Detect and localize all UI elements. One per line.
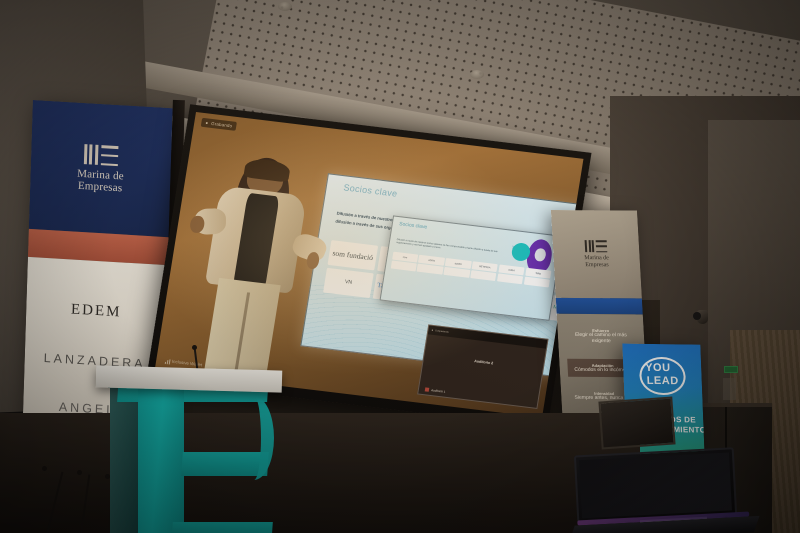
laptop-lid — [574, 447, 737, 523]
banner-brand-name: Marina de Empresas — [77, 169, 124, 196]
logo-line-1: YOU — [645, 362, 671, 374]
participant-label: Auditorio 1 — [431, 388, 446, 394]
watermark-label: Inclusive Wallet — [172, 359, 203, 368]
right-banner-brand: Marina de Empresas — [584, 255, 609, 268]
letter-e-bottom-arm — [171, 522, 273, 533]
letter-e-curve — [234, 396, 274, 480]
shared-logo — [417, 264, 444, 275]
shared-logo — [444, 267, 471, 278]
wall-plate — [723, 378, 736, 400]
logo-line-2: LEAD — [647, 375, 679, 387]
letter-e-spine — [138, 382, 184, 533]
auditorium-scene: Marina de Empresas EDEM LANZADERA ANGELS… — [0, 0, 800, 533]
banner-header-navy: Marina de Empresas — [29, 100, 173, 237]
video-call-participants[interactable]: ■ Compartiendo Auditorio 2 Auditorio 1 — [417, 325, 548, 409]
youlead-logo-icon: YOU LEAD — [639, 357, 687, 396]
table-microphone-head — [192, 345, 197, 350]
presenter-figure — [175, 151, 330, 383]
participant-tile-auditorio-1[interactable]: Auditorio 1 — [425, 387, 446, 393]
laptop-device[interactable] — [574, 447, 750, 533]
me-monogram-icon — [585, 239, 607, 252]
brand-line-2: Empresas — [77, 181, 124, 196]
muted-indicator-icon — [425, 387, 430, 391]
recording-chip: ● Grabando — [201, 118, 237, 131]
exit-sign-icon — [724, 366, 738, 373]
shared-logo — [523, 277, 550, 288]
security-camera-icon — [697, 310, 708, 324]
right-banner-header: Marina de Empresas — [551, 210, 642, 298]
value-block-esfuerzo: Esfuerzo Elegir el camino el más exigent… — [565, 328, 636, 345]
stage-floor — [0, 413, 640, 533]
shared-logo — [390, 261, 417, 272]
ceiling-dome-light — [470, 70, 484, 79]
microphone-head — [77, 470, 82, 475]
right-banner-blue-stripe — [556, 298, 643, 315]
signal-bars-icon — [165, 357, 171, 363]
slide-title: Socios clave — [343, 183, 398, 199]
ceiling-dome-light — [278, 2, 292, 11]
recording-label: Grabando — [211, 121, 233, 128]
me-monogram-icon — [84, 142, 119, 166]
microphone-head — [42, 466, 47, 471]
podium-letter-e — [110, 372, 270, 533]
shared-logo — [497, 274, 524, 285]
brand-line-2: Empresas — [585, 262, 610, 269]
record-icon: ● — [205, 120, 209, 125]
brand-edem: EDEM — [71, 301, 122, 321]
letter-e-side-face — [110, 386, 140, 533]
shared-logo — [470, 271, 497, 282]
partner-logo: som fundació — [327, 241, 379, 271]
shared-slide-title: Socios clave — [399, 221, 428, 230]
confidence-monitor — [598, 396, 675, 449]
